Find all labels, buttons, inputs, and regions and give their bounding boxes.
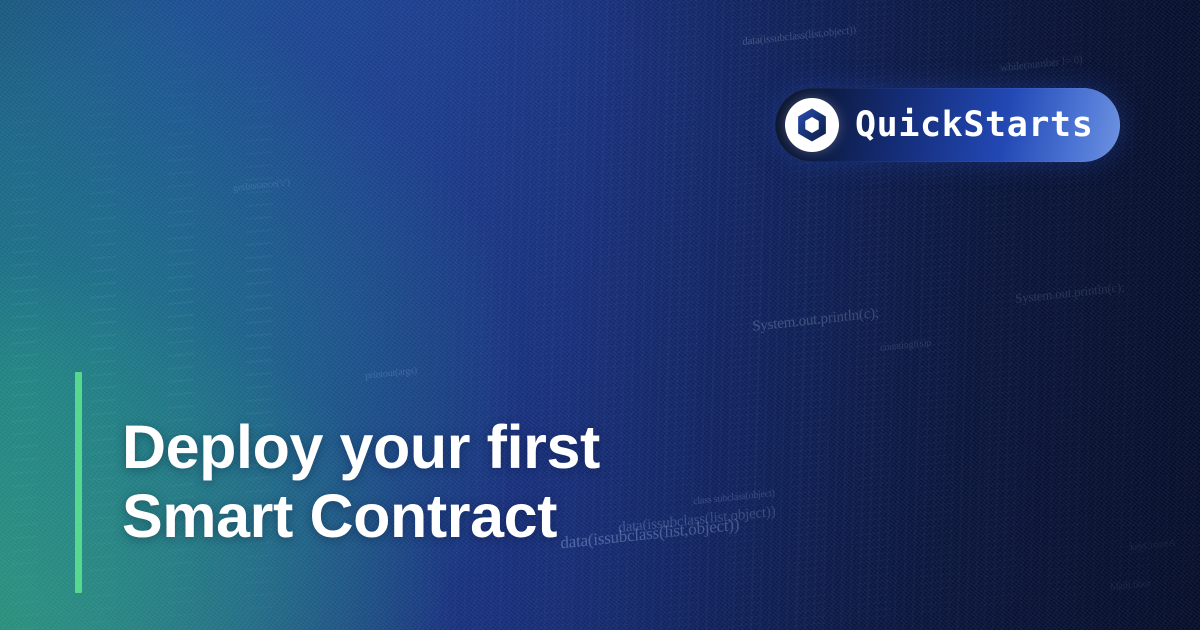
code-snippet: data(issubclass(list,object))	[742, 24, 856, 48]
code-snippet: System.out.println(c);	[752, 305, 879, 336]
page-title: Deploy your first Smart Contract	[122, 413, 600, 552]
accent-bar	[75, 372, 82, 593]
code-snippet: while(number != 0)	[1000, 54, 1083, 75]
code-snippet: countingf(s)p	[880, 337, 932, 353]
code-snippet: keyCreateA	[1130, 538, 1176, 554]
code-snippet: System.out.println(c);	[1015, 279, 1125, 307]
code-snippet: getInstance('c')	[233, 177, 290, 194]
headline-block: Deploy your first Smart Contract	[75, 372, 600, 593]
quickstarts-banner: System.out.println(c); System.out.printl…	[0, 0, 1200, 630]
quickstarts-badge-label: QuickStarts	[855, 108, 1093, 143]
code-snippet: class subclass(object)	[693, 488, 775, 508]
quickstarts-badge[interactable]: QuickStarts	[775, 88, 1120, 162]
code-snippet: data(issubclass(list,object))	[618, 504, 776, 538]
chainlink-hexagon-icon	[785, 98, 839, 152]
code-snippet: Math.floor	[1110, 578, 1151, 593]
